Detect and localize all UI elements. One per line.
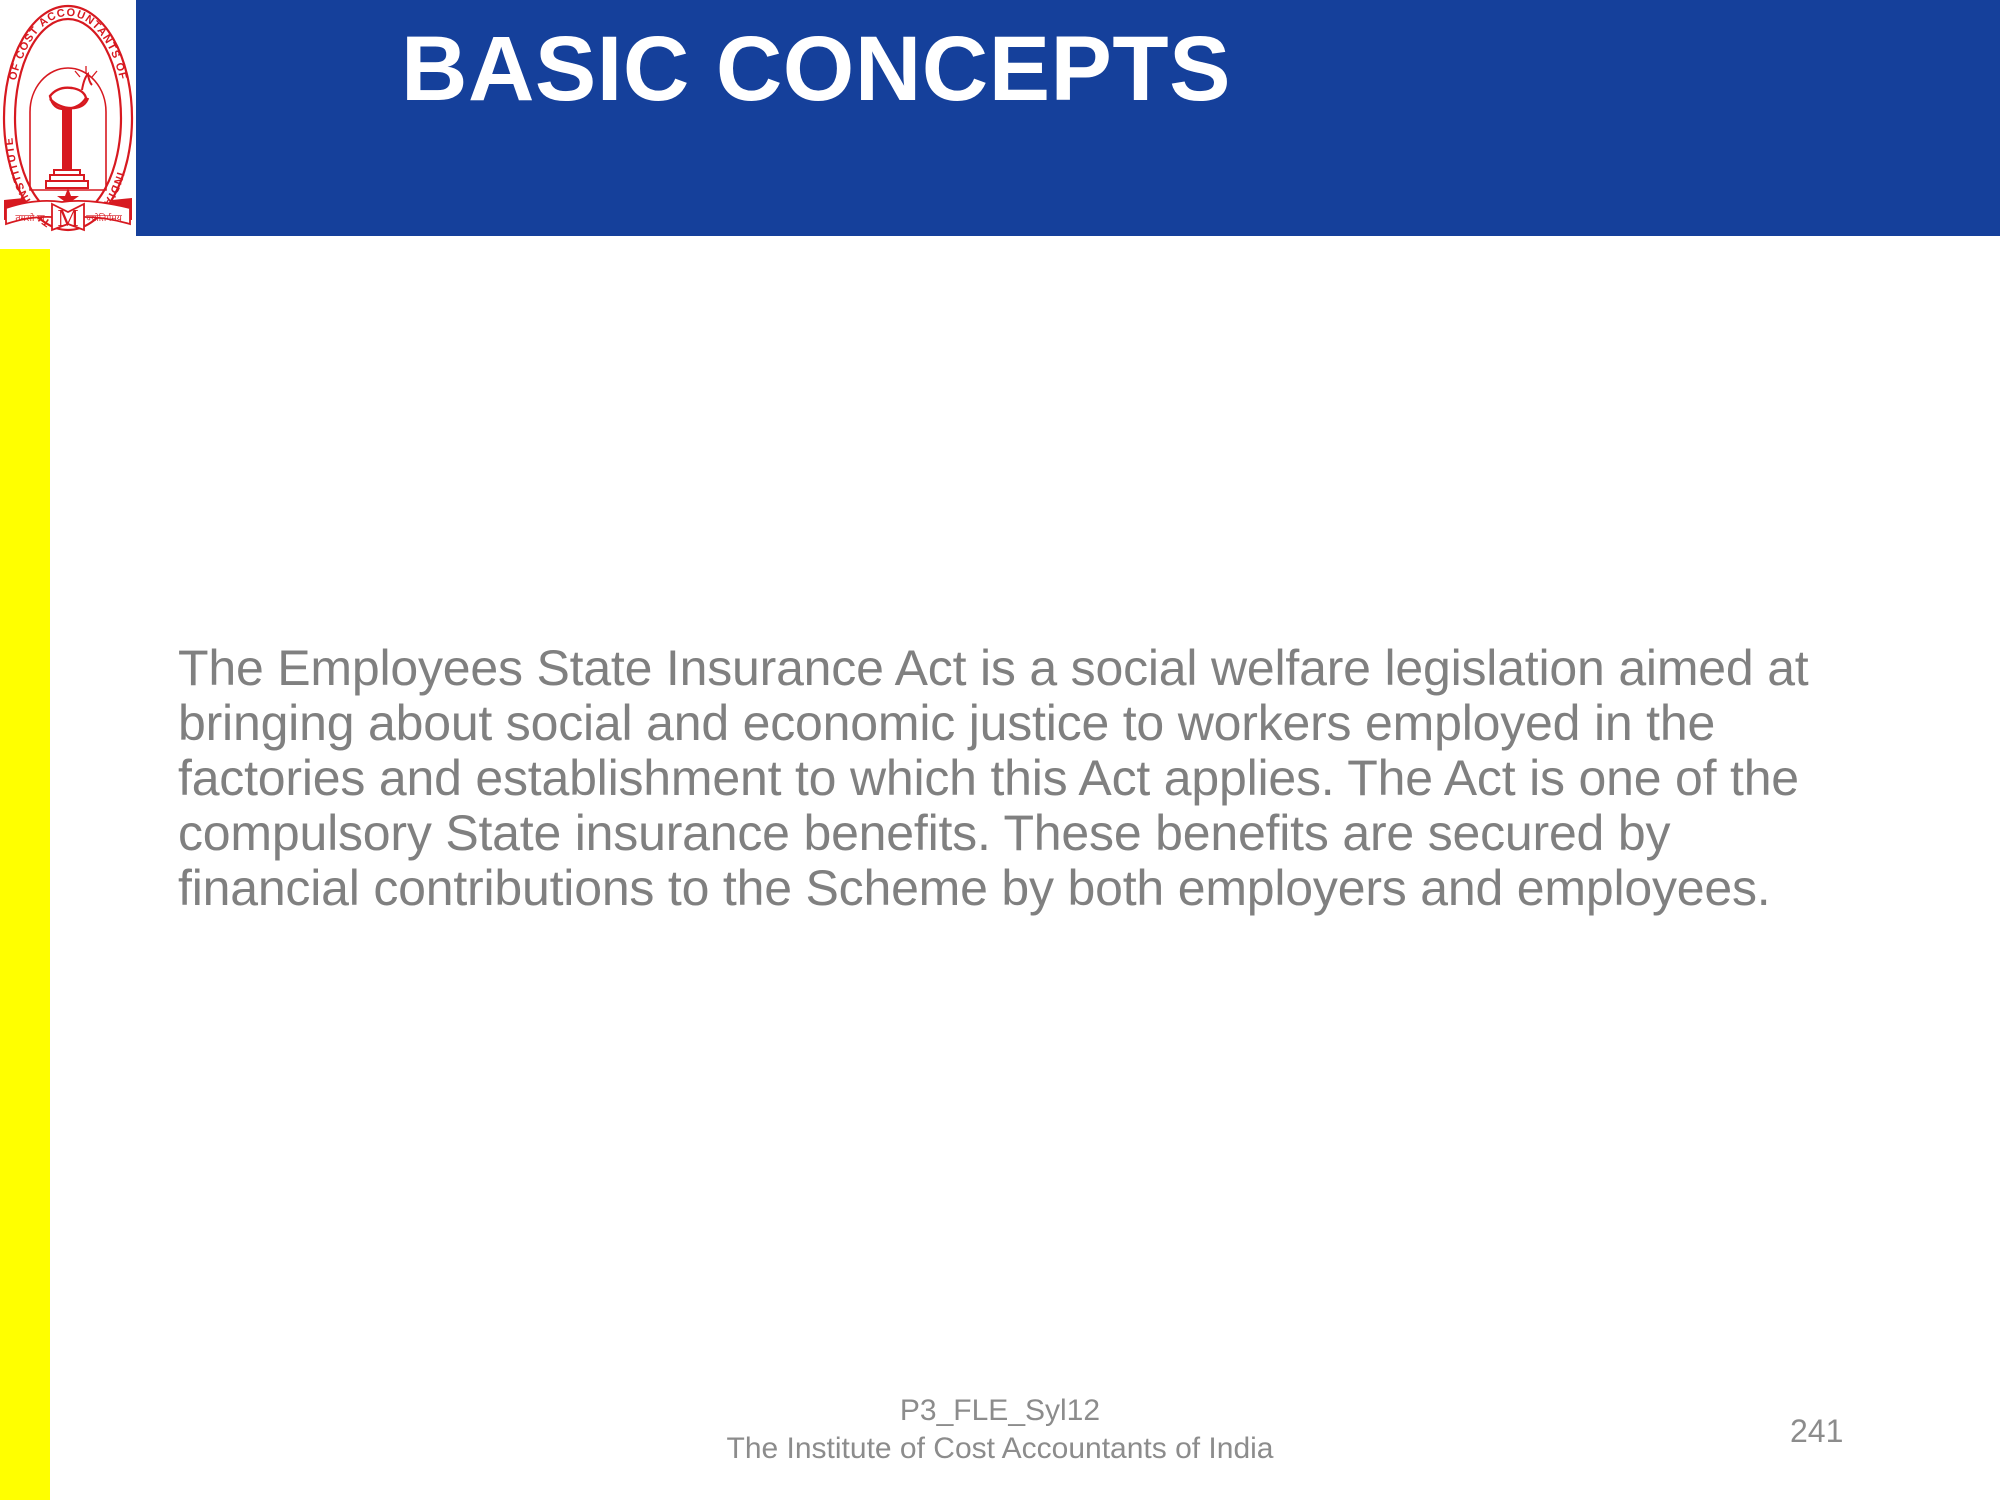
footer-subject-code: P3_FLE_Syl12 [0,1392,2000,1430]
content-body: The Employees State Insurance Act is a s… [178,641,1858,916]
page-number: 241 [1790,1412,1910,1450]
svg-text:तमसो मा: तमसो मा [15,212,45,223]
institute-logo: OF COST ACCOUNTANTS OF INDIA THE INSTITU… [0,0,136,236]
slide-canvas: BASIC CONCEPTS OF COST ACCOUNTANTS OF IN… [0,0,2000,1500]
body-paragraph: The Employees State Insurance Act is a s… [178,641,1858,916]
footer-institute-name: The Institute of Cost Accountants of Ind… [0,1430,2000,1468]
left-accent-bar [0,249,50,1500]
title-banner: BASIC CONCEPTS [136,0,2000,236]
icai-seal-icon: OF COST ACCOUNTANTS OF INDIA THE INSTITU… [0,0,136,236]
svg-text:OF COST ACCOUNTANTS OF: OF COST ACCOUNTANTS OF [7,7,129,82]
page-title: BASIC CONCEPTS [136,14,1496,124]
slide-footer: P3_FLE_Syl12 The Institute of Cost Accou… [0,1392,2000,1468]
svg-text:ज्योतिर्गमय: ज्योतिर्गमय [86,212,123,223]
svg-text:M: M [57,206,78,232]
